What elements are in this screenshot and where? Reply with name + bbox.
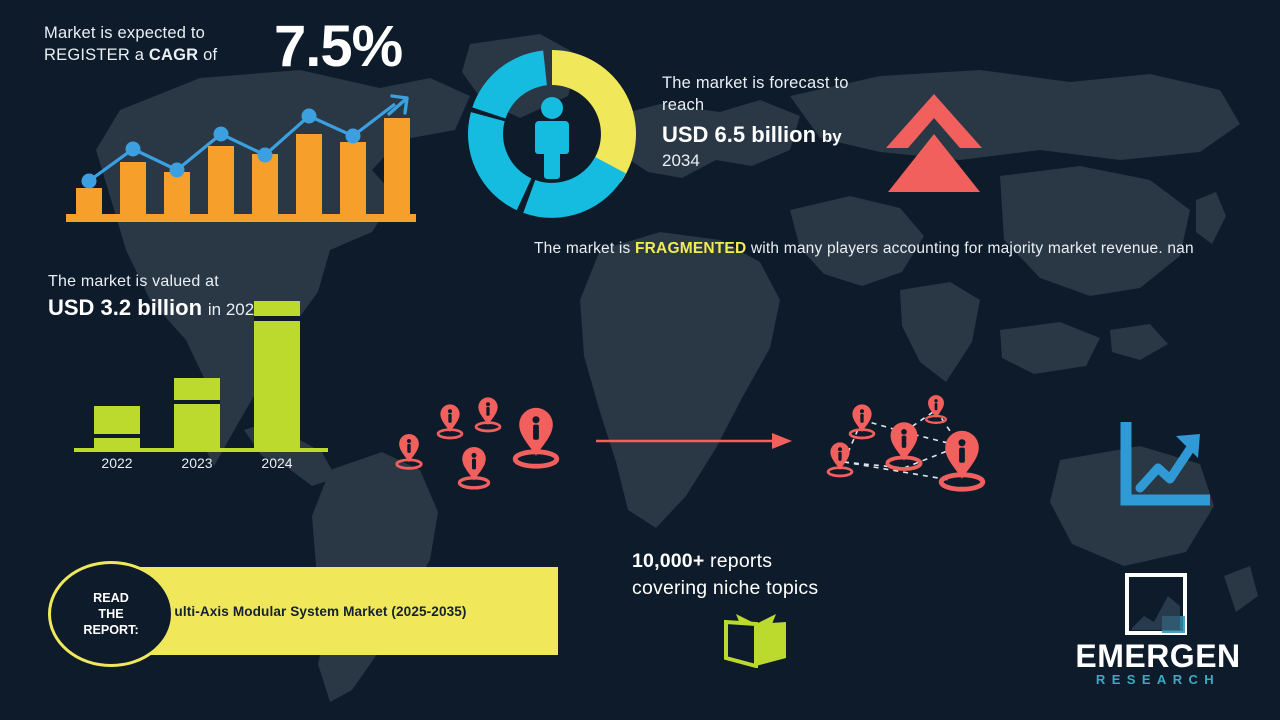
badge-line3: REPORT: xyxy=(83,623,138,637)
infographic-canvas: Market is expected to REGISTER a CAGR of… xyxy=(0,0,1280,720)
brand-name: EMERGEN xyxy=(1060,638,1256,674)
fragmented-statement: The market is FRAGMENTED with many playe… xyxy=(534,237,1224,260)
valuation-xtick-2024: 2024 xyxy=(261,455,292,471)
forecast-lead-line1: The market is forecast to xyxy=(662,74,849,92)
read-report-cta[interactable]: Multi-Axis Modular System Market (2025-2… xyxy=(48,567,558,655)
valuation-xtick-2022: 2022 xyxy=(101,455,132,471)
map-pin-icon xyxy=(397,434,421,468)
valuation-baseline xyxy=(74,448,328,452)
person-icon xyxy=(535,97,569,179)
valuation-lead-text: The market is valued at xyxy=(48,271,348,292)
reports-count-text: 10,000+ reports covering niche topics xyxy=(632,548,932,602)
reports-count-block: 10,000+ reports covering niche topics xyxy=(632,548,932,602)
open-book-icon xyxy=(720,612,792,668)
read-report-badge-text: READTHEREPORT: xyxy=(83,590,138,638)
cagr-lead-line1: Market is expected to xyxy=(44,24,205,42)
cagr-lead-line2-pre: REGISTER a xyxy=(44,46,149,64)
badge-line1: READ xyxy=(93,591,129,605)
forecast-value-row: USD 6.5 billion by xyxy=(662,122,892,150)
growth-baseline xyxy=(66,214,416,222)
cagr-keyword: CAGR xyxy=(149,46,198,64)
valuation-bar-2023 xyxy=(174,378,220,448)
forecast-lead-line2: reach xyxy=(662,96,704,114)
map-pin-icon xyxy=(887,422,920,469)
right-arrow-icon xyxy=(594,428,794,454)
reports-count-unit: reports xyxy=(704,550,772,572)
reports-count-number: 10,000+ xyxy=(632,550,704,572)
map-pin-cluster-left xyxy=(382,388,592,493)
map-pin-icon xyxy=(850,404,874,438)
cagr-value: 7.5% xyxy=(274,18,402,76)
donut-slice-cyan-3 xyxy=(472,51,547,119)
map-pin-icon xyxy=(926,395,946,423)
valuation-bar-2022 xyxy=(94,406,140,448)
map-pin-icon xyxy=(941,431,983,489)
map-pin-icon xyxy=(459,447,488,488)
report-title[interactable]: Multi-Axis Modular System Market (2025-2… xyxy=(163,567,563,655)
forecast-by-label: by xyxy=(822,127,842,146)
donut-slice-cyan-2 xyxy=(468,112,531,210)
map-pin-icon xyxy=(828,442,852,476)
brand-logo: EMERGEN RESEARCH xyxy=(1060,572,1256,702)
line-chart-up-icon xyxy=(1118,422,1210,508)
fragmented-highlight: FRAGMENTED xyxy=(635,240,746,257)
forecast-block: The market is forecast to reach USD 6.5 … xyxy=(662,72,892,172)
square-outline-icon xyxy=(1124,572,1188,636)
market-valuation-bars: 2022 2023 2024 xyxy=(70,296,332,476)
badge-line2: THE xyxy=(98,607,123,621)
market-share-donut xyxy=(463,48,641,220)
map-pin-icon xyxy=(476,397,500,431)
cagr-lead-line2-post: of xyxy=(198,46,217,64)
read-report-badge[interactable]: READTHEREPORT: xyxy=(48,561,174,667)
brand-subname: RESEARCH xyxy=(1060,672,1256,687)
fragmented-post: with many players accounting for majorit… xyxy=(746,240,1193,257)
cagr-block: Market is expected to REGISTER a CAGR of… xyxy=(44,22,464,66)
growth-trend-chart xyxy=(62,78,422,226)
forecast-value: USD 6.5 billion xyxy=(662,122,816,147)
map-pin-icon xyxy=(515,408,557,466)
forecast-lead-text: The market is forecast to reach xyxy=(662,72,892,116)
fragmented-pre: The market is xyxy=(534,240,635,257)
valuation-xtick-2023: 2023 xyxy=(181,455,212,471)
forecast-year: 2034 xyxy=(662,150,892,172)
donut-slice-cyan-1 xyxy=(523,157,626,218)
valuation-bar-2024 xyxy=(254,301,300,448)
map-pin-cluster-right xyxy=(800,386,1010,501)
double-up-chevron-icon xyxy=(884,92,984,196)
map-pin-icon xyxy=(438,404,462,438)
cagr-lead-text: Market is expected to REGISTER a CAGR of xyxy=(44,22,234,66)
reports-count-subtitle: covering niche topics xyxy=(632,577,818,599)
